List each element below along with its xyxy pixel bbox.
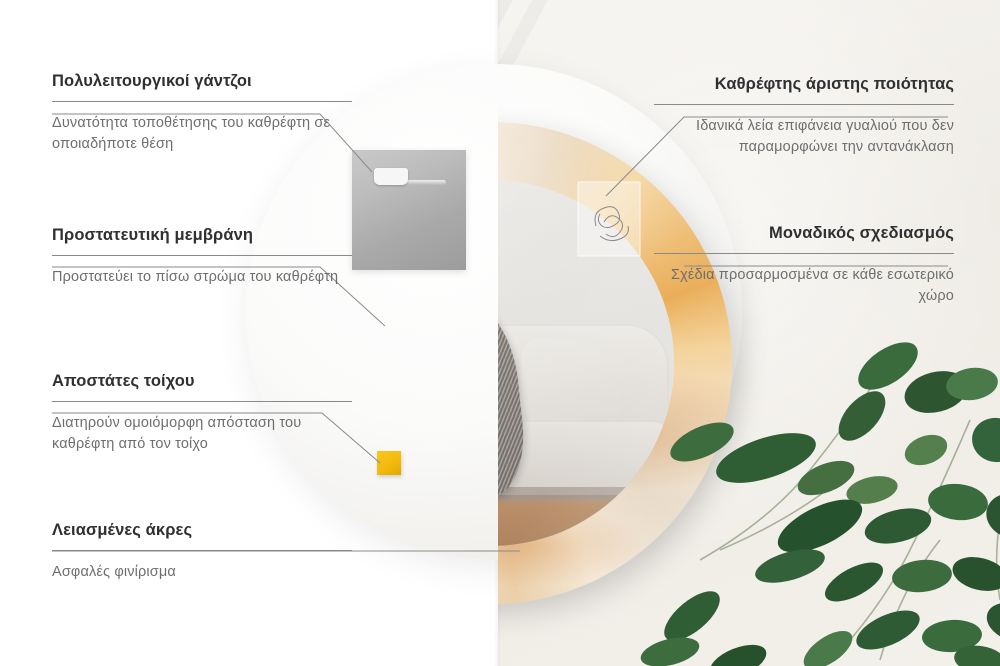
callout-top-quality-mirror: Καθρέφτης άριστης ποιότητας Ιδανικά λεία… bbox=[654, 75, 954, 158]
callout-rule bbox=[52, 550, 352, 551]
mirror-glass-reflection bbox=[498, 180, 674, 546]
callout-multifunctional-hooks: Πολυλειτουργικοί γάντζοι Δυνατότητα τοπο… bbox=[52, 72, 352, 155]
callout-rule bbox=[52, 255, 352, 256]
callout-title: Πολυλειτουργικοί γάντζοι bbox=[52, 72, 352, 92]
callout-protective-membrane: Προστατευτική μεμβράνη Προστατεύει το πί… bbox=[52, 226, 352, 288]
callout-title: Καθρέφτης άριστης ποιότητας bbox=[654, 75, 954, 95]
callout-title: Λειασμένες άκρες bbox=[52, 521, 352, 541]
hanger-mounting-plate bbox=[352, 150, 466, 270]
callout-body: Προστατεύει το πίσω στρώμα του καθρέφτη bbox=[52, 267, 352, 288]
callout-title: Μοναδικός σχεδιασμός bbox=[654, 224, 954, 244]
callout-body: Ιδανικά λεία επιφάνεια γυαλιού που δεν π… bbox=[654, 116, 954, 158]
wall-spacer-block bbox=[377, 451, 401, 475]
callout-title: Αποστάτες τοίχου bbox=[52, 372, 352, 392]
hanger-keyhole-slot bbox=[374, 168, 408, 185]
callout-body: Σχέδια προσαρμοσμένα σε κάθε εσωτερικό χ… bbox=[654, 265, 954, 307]
callout-rule bbox=[52, 401, 352, 402]
callout-rule bbox=[52, 101, 352, 102]
reflected-sofa-seat bbox=[498, 422, 674, 495]
callout-body: Διατηρούν ομοιόμορφη απόσταση του καθρέφ… bbox=[52, 413, 352, 455]
callout-rule bbox=[654, 104, 954, 105]
callout-body: Δυνατότητα τοποθέτησης του καθρέφτη σε ο… bbox=[52, 113, 352, 155]
callout-body: Ασφαλές φινίρισμα bbox=[52, 562, 352, 583]
round-mirror bbox=[498, 122, 732, 604]
callout-wall-spacers: Αποστάτες τοίχου Διατηρούν ομοιόμορφη απ… bbox=[52, 372, 352, 455]
callout-title: Προστατευτική μεμβράνη bbox=[52, 226, 352, 246]
infographic-canvas: Πολυλειτουργικοί γάντζοι Δυνατότητα τοπο… bbox=[0, 0, 1000, 666]
reflected-sofa-base bbox=[498, 487, 630, 502]
callout-unique-design: Μοναδικός σχεδιασμός Σχέδια προσαρμοσμέν… bbox=[654, 224, 954, 307]
callout-rule bbox=[654, 253, 954, 254]
reflected-cushion bbox=[517, 338, 625, 433]
callout-smoothed-edges: Λειασμένες άκρες Ασφαλές φινίρισμα bbox=[52, 521, 352, 583]
